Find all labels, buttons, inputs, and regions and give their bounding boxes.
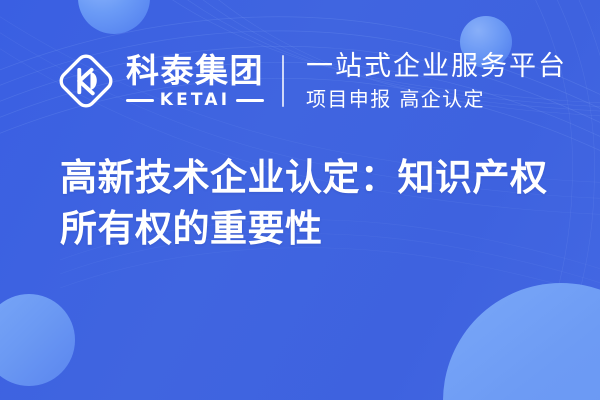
brand-name-cn: 科泰集团: [126, 54, 264, 87]
brand-name-en: KETAI: [160, 92, 231, 109]
brand-logo[interactable]: 科泰集团 KETAI: [58, 53, 264, 109]
left-dash-icon: [126, 99, 154, 102]
page-title: 高新技术企业认定：知识产权所有权的重要性: [60, 152, 560, 254]
slogan-sub: 项目申报 高企认定: [306, 88, 567, 110]
ketai-diamond-monogram-icon: [58, 53, 114, 109]
banner-header: 科泰集团 KETAI 一站式企业服务平台 项目申报 高企认定: [0, 44, 600, 118]
promo-banner: 科泰集团 KETAI 一站式企业服务平台 项目申报 高企认定 高新技术企业认定：…: [0, 0, 600, 400]
right-dash-icon: [236, 99, 264, 102]
slogan-main: 一站式企业服务平台: [306, 52, 567, 82]
vertical-divider: [282, 55, 284, 107]
brand-wordmark: 科泰集团 KETAI: [126, 54, 264, 109]
brand-name-en-row: KETAI: [126, 92, 264, 109]
slogan-block: 一站式企业服务平台 项目申报 高企认定: [306, 52, 567, 111]
